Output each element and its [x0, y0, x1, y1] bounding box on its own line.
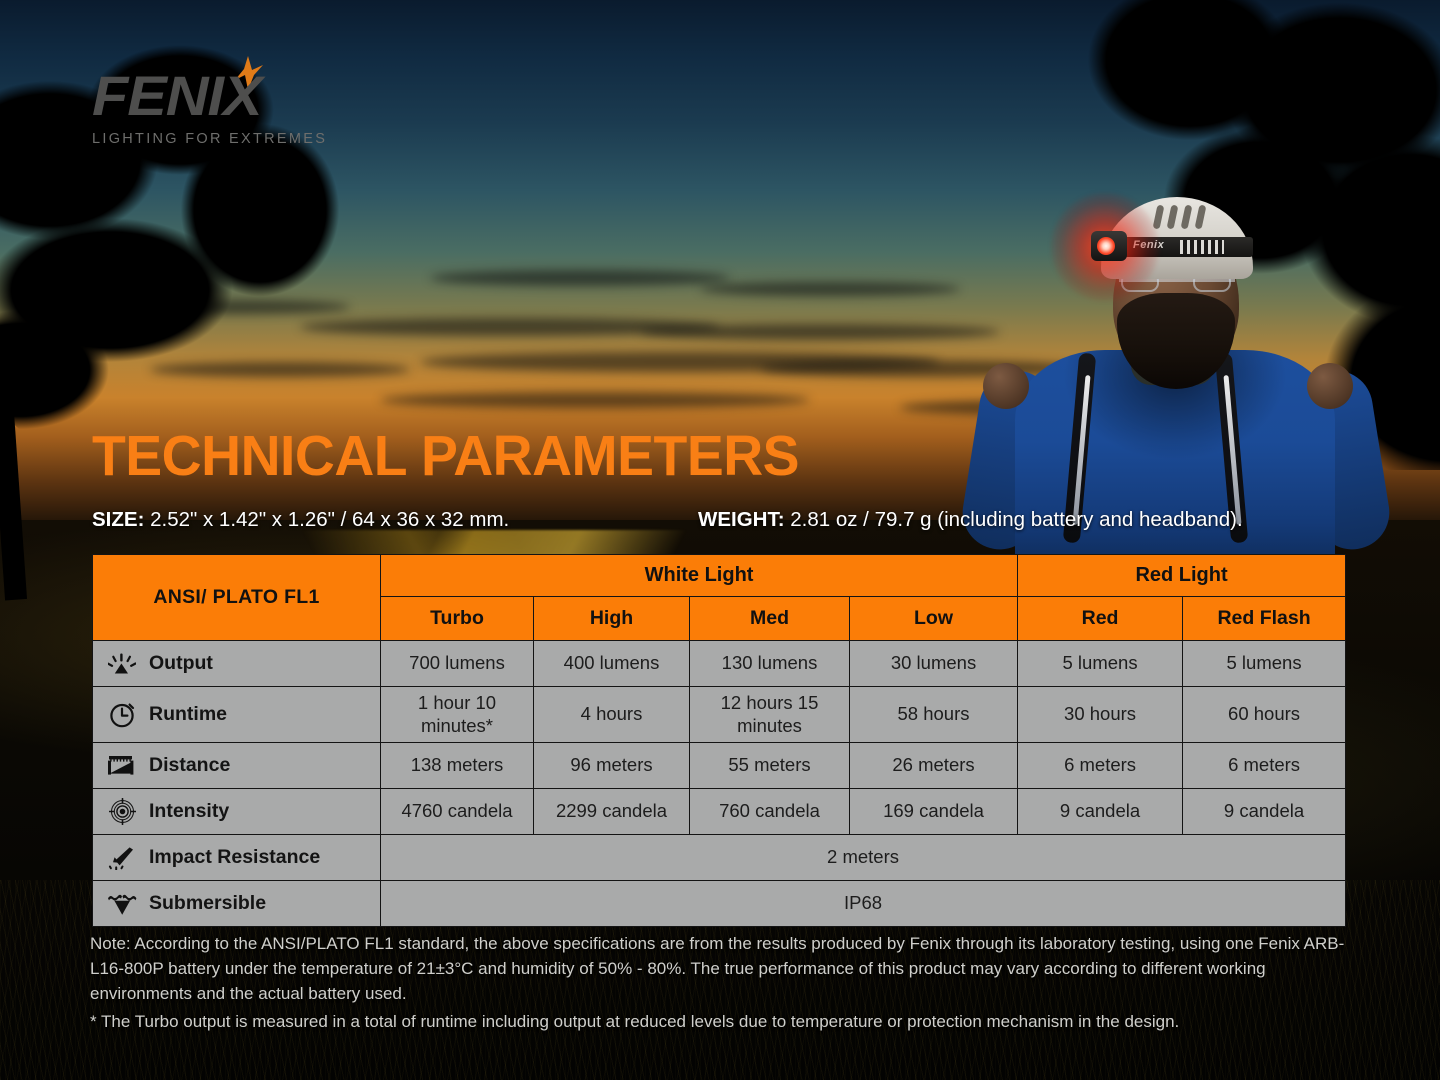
cell-intensity-red-flash: 9 candela [1183, 789, 1346, 835]
white-light-group-header: White Light [381, 555, 1018, 597]
cell-runtime-high: 4 hours [534, 687, 690, 743]
row-label-text: Distance [149, 754, 230, 778]
ansi-plato-header: ANSI/ PLATO FL1 [93, 555, 381, 641]
cell-runtime-low: 58 hours [850, 687, 1018, 743]
cell-intensity-red: 9 candela [1018, 789, 1183, 835]
table-row: Intensity 4760 candela 2299 candela 760 … [93, 789, 1346, 835]
specification-table: ANSI/ PLATO FL1 White Light Red Light Tu… [92, 554, 1346, 927]
cell-impact-resistance-value: 2 meters [381, 835, 1346, 881]
row-label-distance: Distance [93, 743, 381, 789]
water-drop-icon [107, 891, 137, 917]
weight-label: WEIGHT: [698, 508, 785, 531]
table-row: Output 700 lumens 400 lumens 130 lumens … [93, 641, 1346, 687]
size-label: SIZE: [92, 508, 144, 531]
mode-header-high: High [534, 597, 690, 641]
page-title: TECHNICAL PARAMETERS [92, 428, 799, 485]
cloud-band [430, 270, 730, 286]
weight-value: 2.81 oz / 79.7 g (including battery and … [785, 508, 1243, 531]
headlamp-band-pattern [1180, 240, 1224, 254]
target-icon [107, 799, 137, 825]
cell-distance-high: 96 meters [534, 743, 690, 789]
cell-runtime-red-flash: 60 hours [1183, 687, 1346, 743]
cell-runtime-turbo: 1 hour 10 minutes* [381, 687, 534, 743]
mode-header-turbo: Turbo [381, 597, 534, 641]
cell-intensity-turbo: 4760 candela [381, 789, 534, 835]
right-hand [1307, 363, 1353, 409]
cell-output-turbo: 700 lumens [381, 641, 534, 687]
cell-output-med: 130 lumens [690, 641, 850, 687]
mode-header-med: Med [690, 597, 850, 641]
mode-header-low: Low [850, 597, 1018, 641]
cell-distance-med: 55 meters [690, 743, 850, 789]
cell-runtime-red: 30 hours [1018, 687, 1183, 743]
cloud-band [640, 324, 1000, 340]
beam-distance-icon [107, 753, 137, 779]
cell-distance-low: 26 meters [850, 743, 1018, 789]
cell-output-high: 400 lumens [534, 641, 690, 687]
red-light-group-header: Red Light [1018, 555, 1346, 597]
row-label-submersible: Submersible [93, 881, 381, 927]
cell-runtime-med: 12 hours 15 minutes [690, 687, 850, 743]
clock-icon [107, 702, 137, 728]
row-label-impact-resistance: Impact Resistance [93, 835, 381, 881]
row-label-text: Intensity [149, 800, 229, 824]
cloud-band [700, 282, 960, 296]
table-row: Impact Resistance 2 meters [93, 835, 1346, 881]
brand-name: FENIX [92, 68, 431, 124]
row-label-text: Submersible [149, 892, 266, 916]
table-row: Submersible IP68 [93, 881, 1346, 927]
mode-header-red: Red [1018, 597, 1183, 641]
helmet-vent [1181, 205, 1193, 230]
cell-submersible-value: IP68 [381, 881, 1346, 927]
row-label-runtime: Runtime [93, 687, 381, 743]
light-burst-icon [107, 651, 137, 677]
footnote: Note: According to the ANSI/PLATO FL1 st… [90, 932, 1352, 1035]
cell-distance-red-flash: 6 meters [1183, 743, 1346, 789]
footnote-line-1: Note: According to the ANSI/PLATO FL1 st… [90, 932, 1352, 1007]
cell-distance-turbo: 138 meters [381, 743, 534, 789]
fenix-logo: FENIX LIGHTING FOR EXTREMES [92, 68, 412, 147]
table-header-group-row: ANSI/ PLATO FL1 White Light Red Light [93, 555, 1346, 597]
cell-output-red: 5 lumens [1018, 641, 1183, 687]
row-label-intensity: Intensity [93, 789, 381, 835]
table-row: Runtime 1 hour 10 minutes* 4 hours 12 ho… [93, 687, 1346, 743]
row-label-output: Output [93, 641, 381, 687]
spec-sheet-page: Fenix FENIX LIGHTING FOR EXTREMES TECHNI… [0, 0, 1440, 1080]
row-label-text: Output [149, 652, 213, 676]
cell-intensity-high: 2299 candela [534, 789, 690, 835]
size-value: 2.52" x 1.42" x 1.26" / 64 x 36 x 32 mm. [144, 508, 509, 531]
footnote-line-2: * The Turbo output is measured in a tota… [90, 1010, 1352, 1035]
row-label-text: Impact Resistance [149, 846, 320, 870]
mode-header-red-flash: Red Flash [1183, 597, 1346, 641]
size-spec: SIZE: 2.52" x 1.42" x 1.26" / 64 x 36 x … [92, 508, 509, 532]
brand-tagline: LIGHTING FOR EXTREMES [92, 131, 412, 147]
helmet-vent [1195, 205, 1207, 230]
cloud-band [380, 392, 810, 408]
cell-output-red-flash: 5 lumens [1183, 641, 1346, 687]
cell-intensity-low: 169 candela [850, 789, 1018, 835]
cell-distance-red: 6 meters [1018, 743, 1183, 789]
row-label-text: Runtime [149, 703, 227, 727]
weight-spec: WEIGHT: 2.81 oz / 79.7 g (including batt… [698, 508, 1243, 532]
table-row: Distance 138 meters 96 meters 55 meters … [93, 743, 1346, 789]
cell-output-low: 30 lumens [850, 641, 1018, 687]
specification-table-wrapper: ANSI/ PLATO FL1 White Light Red Light Tu… [92, 554, 1345, 927]
impact-icon [107, 845, 137, 871]
helmet-vent [1167, 205, 1179, 230]
left-hand [983, 363, 1029, 409]
cell-intensity-med: 760 candela [690, 789, 850, 835]
headlamp-red-led [1097, 237, 1115, 255]
